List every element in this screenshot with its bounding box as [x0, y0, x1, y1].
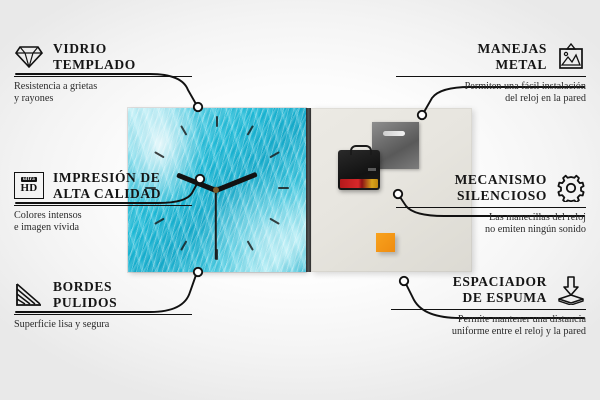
callout-description: Las manecillas del reloj no emiten ningú… — [396, 212, 586, 237]
callout-mecanismo-silencioso: MECANISMO SILENCIOSO Las manecillas del … — [396, 172, 586, 237]
clock-pivot — [213, 187, 219, 193]
callout-title-line2: SILENCIOSO — [457, 188, 547, 203]
callout-title: MECANISMO SILENCIOSO — [455, 172, 547, 203]
callout-bordes-pulidos: BORDES PULIDOS Superficie lisa y segura — [14, 279, 192, 331]
callout-desc-line2: e imagen vívida — [14, 222, 79, 233]
callout-title-line2: METAL — [495, 57, 547, 72]
callout-divider — [396, 76, 586, 77]
callout-divider — [14, 205, 192, 206]
callout-description: Permiten una fácil instalación del reloj… — [396, 81, 586, 106]
clock-tick — [180, 240, 187, 251]
callout-title-line1: MANEJAS — [478, 41, 547, 56]
callout-title: ESPACIADOR DE ESPUMA — [453, 274, 547, 305]
diamond-icon — [14, 44, 44, 70]
callout-title-line1: VIDRIO — [53, 41, 107, 56]
foam-spacer-icon — [556, 275, 586, 305]
callout-description: Colores intensos e imagen vívida — [14, 210, 192, 235]
callout-description: Permite mantener una distancia uniforme … — [391, 314, 586, 339]
battery-compartment — [340, 179, 378, 188]
callout-divider — [396, 207, 586, 208]
polished-edges-icon — [14, 282, 44, 308]
quartz-mechanism — [338, 150, 380, 190]
clock-tick — [180, 125, 187, 136]
callout-title-line1: ESPACIADOR — [453, 274, 547, 289]
clock-tick — [269, 218, 280, 225]
callout-description: Superficie lisa y segura — [14, 319, 192, 331]
callout-title-line1: IMPRESIÓN DE — [53, 170, 160, 185]
clock-tick — [278, 187, 289, 189]
callout-desc-line1: Permite mantener una distancia — [458, 314, 586, 325]
callout-desc-line2: del reloj en la pared — [505, 93, 586, 104]
callout-title-line1: MECANISMO — [455, 172, 547, 187]
callout-title: MANEJAS METAL — [478, 41, 547, 72]
clock-tick — [247, 125, 254, 136]
callout-desc-line1: Colores intensos — [14, 210, 82, 221]
callout-desc-line2: no emiten ningún sonido — [485, 224, 586, 235]
ultra-hd-icon: ultra HD — [14, 172, 44, 199]
callout-title-line2: ALTA CALIDAD — [53, 186, 161, 201]
clock-hour-hand — [215, 172, 258, 193]
callout-title-line2: DE ESPUMA — [462, 290, 547, 305]
callout-divider — [14, 76, 192, 77]
callout-desc-line2: uniforme entre el reloj y la pared — [452, 326, 586, 337]
callout-title: IMPRESIÓN DE ALTA CALIDAD — [53, 170, 161, 201]
callout-espaciador-espuma: ESPACIADOR DE ESPUMA Permite mantener un… — [391, 274, 586, 339]
callout-desc-line1: Las manecillas del reloj — [489, 212, 586, 223]
callout-title-line2: PULIDOS — [53, 295, 117, 310]
ultra-hd-icon-large-label: HD — [20, 183, 37, 194]
callout-desc-line2: y rayones — [14, 93, 53, 104]
infographic-canvas: VIDRIO TEMPLADO Resistencia a grietas y … — [0, 0, 600, 400]
callout-title-line1: BORDES — [53, 279, 112, 294]
mechanism-hook — [350, 145, 372, 155]
clock-second-hand — [215, 190, 217, 260]
callout-desc-line1: Permiten una fácil instalación — [465, 81, 586, 92]
mechanism-label — [368, 168, 376, 171]
callout-impresion-alta-calidad: ultra HD IMPRESIÓN DE ALTA CALIDAD Color… — [14, 170, 192, 235]
callout-title-line2: TEMPLADO — [53, 57, 136, 72]
hanger-slot — [383, 131, 405, 136]
foam-spacer — [376, 233, 395, 252]
clock-tick — [269, 151, 280, 158]
callout-divider — [391, 309, 586, 310]
callout-vidrio-templado: VIDRIO TEMPLADO Resistencia a grietas y … — [14, 41, 192, 106]
callout-title: VIDRIO TEMPLADO — [53, 41, 136, 72]
callout-divider — [14, 314, 192, 315]
clock-tick — [216, 116, 218, 127]
callout-description: Resistencia a grietas y rayones — [14, 81, 192, 106]
clock-tick — [154, 151, 165, 158]
gear-icon — [556, 174, 586, 202]
callout-desc-line1: Resistencia a grietas — [14, 81, 97, 92]
clock-tick — [247, 240, 254, 251]
wall-frame-icon — [556, 43, 586, 71]
callout-manejas-metal: MANEJAS METAL Permiten una fácil instala… — [396, 41, 586, 106]
callout-desc-line1: Superficie lisa y segura — [14, 319, 109, 330]
callout-title: BORDES PULIDOS — [53, 279, 117, 310]
